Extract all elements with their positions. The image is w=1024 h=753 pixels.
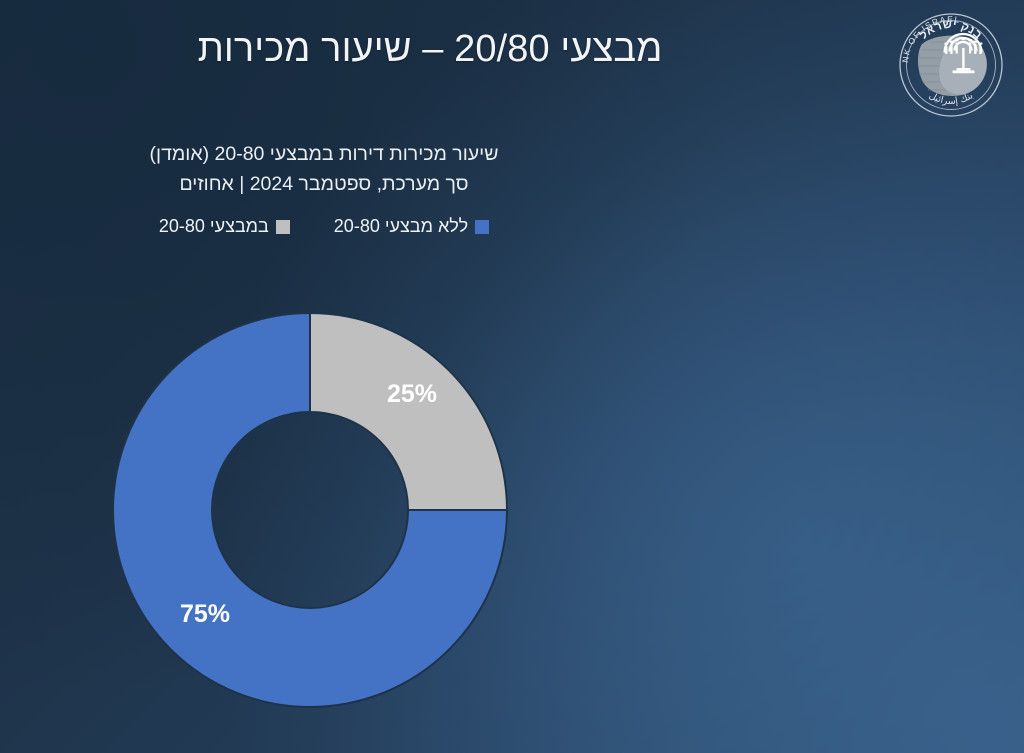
chart-subtitle-line-1: שיעור מכירות דירות במבצעי 20-80 (אומדן)	[150, 143, 499, 165]
donut-label-with-2080: 25%	[387, 380, 437, 408]
chart-header: שיעור מכירות דירות במבצעי 20-80 (אומדן) …	[0, 140, 570, 237]
chart-subtitle: שיעור מכירות דירות במבצעי 20-80 (אומדן) …	[0, 140, 570, 199]
donut-chart: 25% 75%	[0, 295, 620, 735]
legend-swatch-blue	[475, 220, 489, 234]
donut-slice-with-2080[interactable]	[310, 313, 507, 510]
page-title: מבצעי 20/80 – שיעור מכירות	[0, 26, 860, 74]
chart-subtitle-line-2: סך מערכת, ספטמבר 2024 | אחוזים	[78, 170, 570, 200]
legend-label-with-2080: במבצעי 20-80	[159, 216, 269, 237]
legend-item-with-2080[interactable]: במבצעי 20-80	[159, 216, 290, 237]
chart-legend: ללא מבצעי 20-80 במבצעי 20-80	[0, 216, 570, 237]
donut-label-without-2080: 75%	[180, 600, 230, 628]
legend-item-without-2080[interactable]: ללא מבצעי 20-80	[334, 216, 489, 237]
legend-label-without-2080: ללא מבצעי 20-80	[334, 216, 468, 237]
slide: מבצעי 20/80 – שיעור מכירות בנק ישראל BAN…	[0, 0, 1024, 753]
bank-of-israel-logo: בנק ישראל BANK OF ISRAEL بنك إسرائيل	[892, 6, 1010, 124]
legend-swatch-gray	[276, 220, 290, 234]
